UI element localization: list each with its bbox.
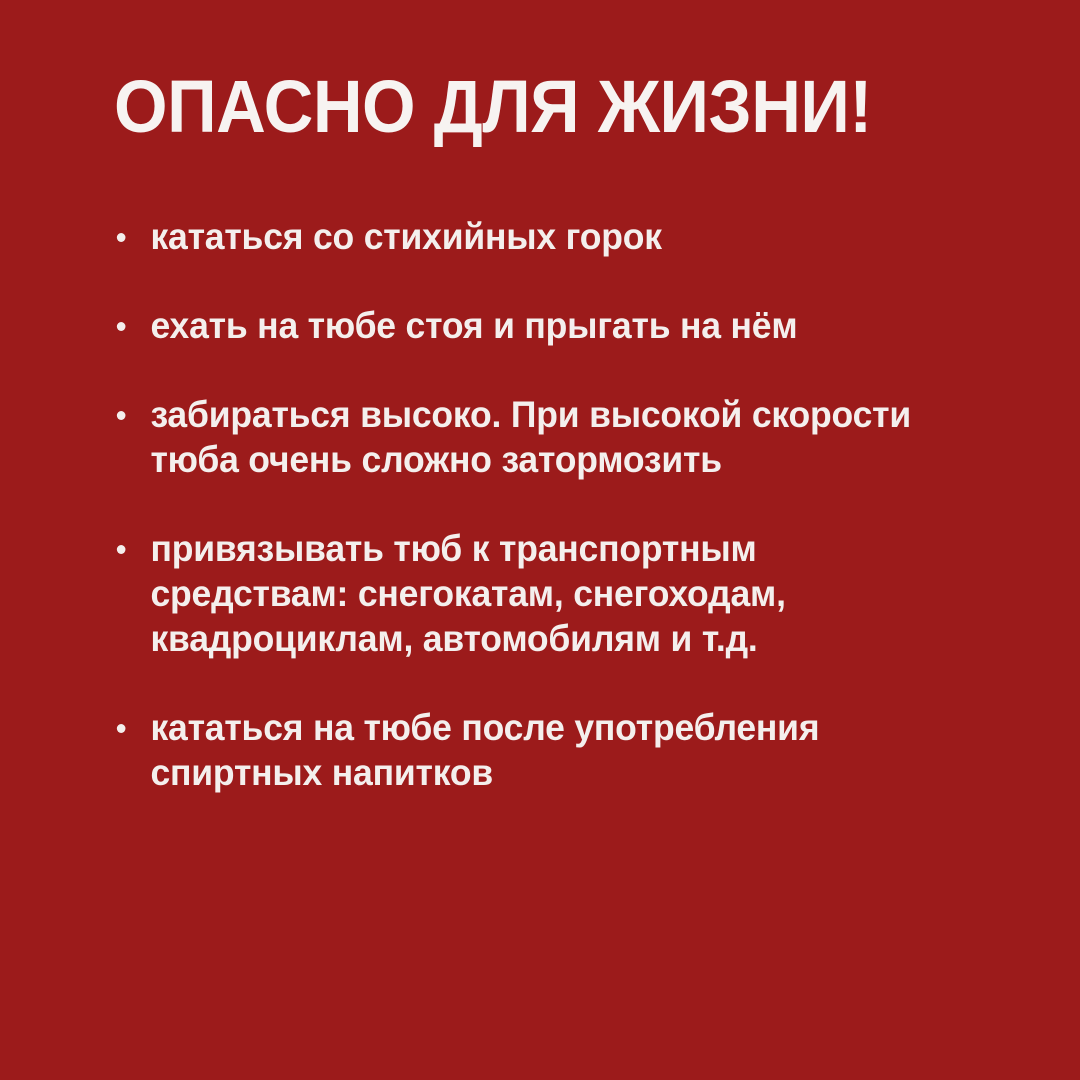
- dot-bullet-icon: [117, 724, 126, 733]
- dot-bullet-icon: [117, 411, 126, 420]
- list-item-label: кататься на тюбе после употребления спир…: [150, 705, 948, 795]
- list-item-label: привязывать тюб к транспортным средствам…: [150, 526, 948, 661]
- list-item-label: кататься со стихийных горок: [150, 214, 948, 259]
- dot-bullet-icon: [117, 322, 126, 331]
- page-title: ОПАСНО ДЛЯ ЖИЗНИ!: [114, 68, 872, 146]
- list-item: кататься со стихийных горок: [113, 214, 948, 259]
- list-item: кататься на тюбе после употребления спир…: [113, 705, 948, 795]
- list-item: забираться высоко. При высокой скорости …: [113, 392, 948, 482]
- warning-list: кататься со стихийных горок ехать на тюб…: [113, 214, 983, 795]
- dot-bullet-icon: [117, 233, 126, 242]
- list-item-label: ехать на тюбе стоя и прыгать на нём: [150, 303, 948, 348]
- dot-bullet-icon: [117, 545, 126, 554]
- list-item: привязывать тюб к транспортным средствам…: [113, 526, 948, 661]
- safety-poster: ОПАСНО ДЛЯ ЖИЗНИ! кататься со стихийных …: [0, 0, 1080, 1080]
- list-item-label: забираться высоко. При высокой скорости …: [150, 392, 948, 482]
- list-item: ехать на тюбе стоя и прыгать на нём: [113, 303, 948, 348]
